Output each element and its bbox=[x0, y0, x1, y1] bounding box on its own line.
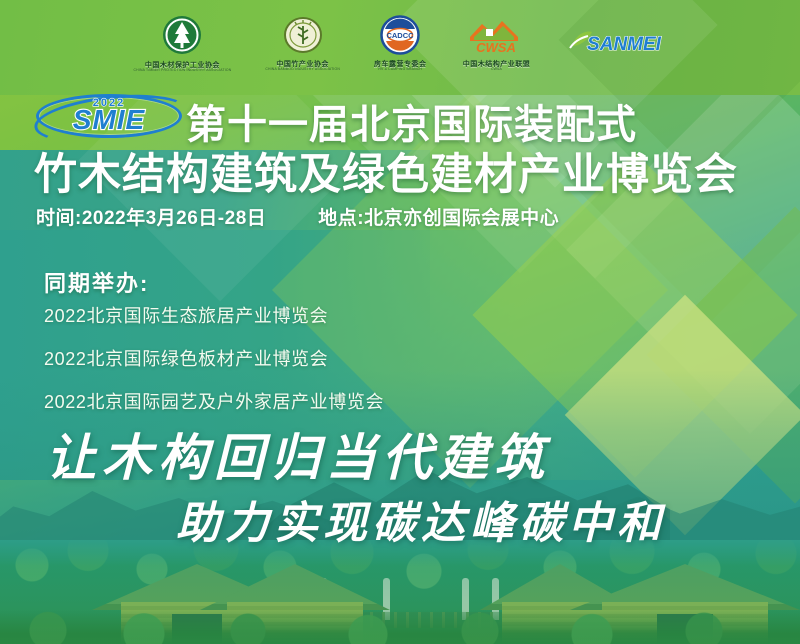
organizer-logo-4[interactable]: CWSA 中国木结构产业联盟 CWSA bbox=[460, 15, 532, 71]
cwsa-house-icon: CWSA bbox=[460, 15, 532, 59]
event-venue: 地点:北京亦创国际会展中心 bbox=[318, 203, 559, 230]
concurrent-events-list: 2022北京国际生态旅居产业博览会 2022北京国际绿色板材产业博览会 2022… bbox=[44, 302, 384, 414]
smie-acronym: SMIE bbox=[36, 104, 182, 136]
organizer-logo-2[interactable]: 中国竹产业协会 CHINA BAMBOO INDUSTRY ASSOCIATIO… bbox=[265, 15, 340, 71]
organizer-name-en: CHINA TIMBER PROTECTION INDUSTRY ASSOCIA… bbox=[134, 69, 232, 72]
svg-text:CWSA: CWSA bbox=[477, 40, 517, 55]
concurrent-event-item: 2022北京国际绿色板材产业博览会 bbox=[44, 345, 384, 371]
organizer-logo-5[interactable]: SANMEI bbox=[566, 24, 666, 62]
sanmei-leaf-icon: SANMEI bbox=[566, 24, 666, 62]
organizer-name-en: CHINA BAMBOO INDUSTRY ASSOCIATION bbox=[265, 68, 340, 71]
cadcc-badge-icon: CADCC bbox=[380, 15, 420, 59]
concurrent-event-item: 2022北京国际园艺及户外家居产业博览会 bbox=[44, 388, 384, 414]
pine-tree-seal-icon bbox=[161, 14, 203, 60]
smie-logo[interactable]: 2022 SMIE bbox=[36, 92, 182, 140]
svg-text:SANMEI: SANMEI bbox=[588, 34, 663, 55]
concurrent-event-item: 2022北京国际生态旅居产业博览会 bbox=[44, 302, 384, 328]
concurrent-events-heading: 同期举办: bbox=[44, 266, 149, 298]
organizer-logo-bar: 中国木材保护工业协会 CHINA TIMBER PROTECTION INDUS… bbox=[0, 8, 800, 78]
exhibition-poster: 中国木材保护工业协会 CHINA TIMBER PROTECTION INDUS… bbox=[0, 0, 800, 644]
organizer-logo-3[interactable]: CADCC 房车露营专委会 RV & CAMPING BRANCH bbox=[374, 15, 427, 71]
organizer-logo-1[interactable]: 中国木材保护工业协会 CHINA TIMBER PROTECTION INDUS… bbox=[134, 14, 232, 72]
event-date: 时间:2022年3月26日-28日 bbox=[36, 203, 266, 230]
organizer-name-en: RV & CAMPING BRANCH bbox=[378, 68, 422, 71]
page-title-line-2: 竹木结构建筑及绿色建材产业博览会 bbox=[34, 140, 738, 202]
event-meta: 时间:2022年3月26日-28日 地点:北京亦创国际会展中心 bbox=[36, 203, 559, 230]
bamboo-seal-icon bbox=[283, 15, 323, 59]
slogan-line-2: 助力实现碳达峰碳中和 bbox=[176, 487, 666, 551]
wooden-cabin-photo bbox=[0, 540, 800, 644]
organizer-name-en: CWSA bbox=[491, 68, 502, 71]
slogan-line-1: 让木构回归当代建筑 bbox=[46, 418, 550, 490]
svg-text:CADCC: CADCC bbox=[387, 31, 415, 40]
